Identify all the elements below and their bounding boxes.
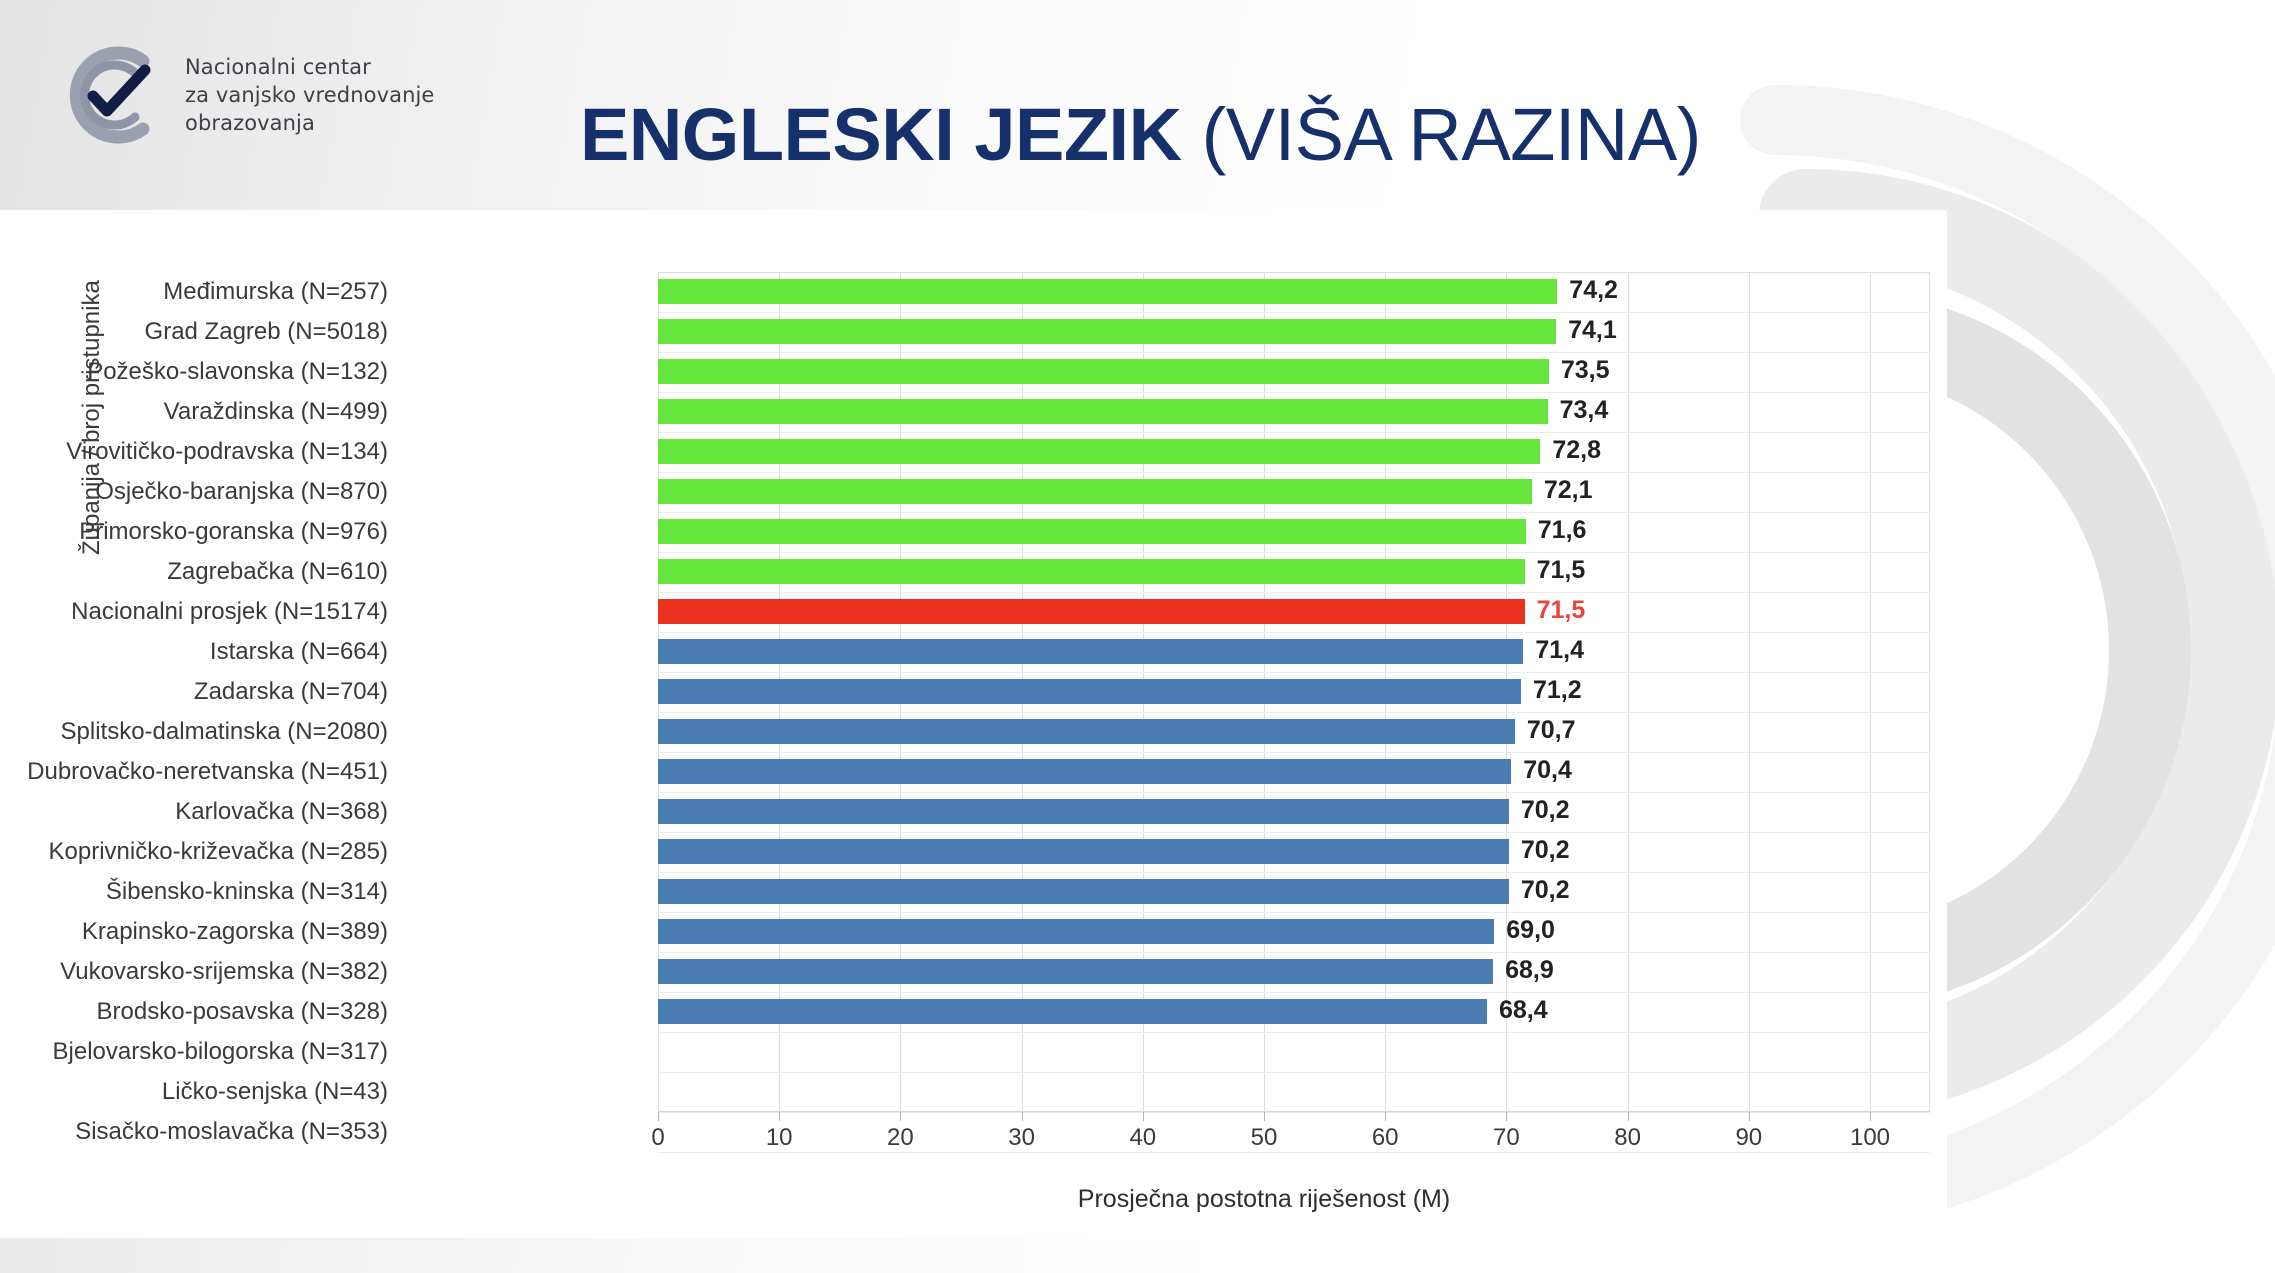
bar-row: 69,0 (658, 912, 1930, 952)
bar-row: 71,4 (658, 632, 1930, 672)
bar-row: 70,2 (658, 792, 1930, 832)
bar (658, 959, 1493, 984)
page-title: ENGLESKI JEZIK (VIŠA RAZINA) (580, 92, 1880, 177)
bar-row: 73,5 (658, 352, 1930, 392)
x-tick-label: 90 (1704, 1124, 1794, 1152)
bar (658, 399, 1548, 424)
bar-value-label: 71,2 (1533, 676, 1582, 705)
category-label: Varaždinska (N=499) (0, 398, 388, 426)
bar-row: 74,1 (658, 312, 1930, 352)
category-label: Ličko-senjska (N=43) (0, 1078, 388, 1106)
bar-row (658, 1072, 1930, 1112)
category-label: Zadarska (N=704) (0, 678, 388, 706)
x-tick-mark (779, 1112, 780, 1121)
bar-row: 72,1 (658, 472, 1930, 512)
bar-value-label: 70,2 (1521, 796, 1570, 825)
x-tick-mark (1264, 1112, 1265, 1121)
bar-value-label: 70,4 (1523, 756, 1572, 785)
category-label: Vukovarsko-srijemska (N=382) (0, 958, 388, 986)
x-tick-mark (1022, 1112, 1023, 1121)
bar-row: 72,8 (658, 432, 1930, 472)
x-axis-title: Prosječna postotna riješenost (M) (658, 1185, 1870, 1214)
bar (658, 759, 1511, 784)
bar (658, 679, 1521, 704)
bar (658, 919, 1494, 944)
x-tick-mark (1143, 1112, 1144, 1121)
bar (658, 599, 1525, 624)
bar (658, 439, 1540, 464)
bar-row: 73,4 (658, 392, 1930, 432)
x-tick-label: 20 (855, 1124, 945, 1152)
bar (658, 879, 1509, 904)
category-label: Bjelovarsko-bilogorska (N=317) (0, 1038, 388, 1066)
bar (658, 999, 1487, 1024)
bar-value-label: 68,9 (1505, 956, 1554, 985)
bar-chart: Županija / broj pristupnika Prosječna po… (0, 0, 2275, 1273)
bar (658, 479, 1532, 504)
category-label: Karlovačka (N=368) (0, 798, 388, 826)
bar (658, 839, 1509, 864)
gridline-horizontal (658, 1152, 1930, 1153)
x-tick-label: 50 (1219, 1124, 1309, 1152)
bar-row: 71,5 (658, 552, 1930, 592)
bar (658, 719, 1515, 744)
x-tick-mark (1506, 1112, 1507, 1121)
bar (658, 559, 1525, 584)
bar-value-label: 72,8 (1552, 436, 1601, 465)
bar-value-label: 68,4 (1499, 996, 1548, 1025)
bar (658, 519, 1526, 544)
x-tick-label: 60 (1340, 1124, 1430, 1152)
bar (658, 639, 1523, 664)
category-label: Virovitičko-podravska (N=134) (0, 438, 388, 466)
x-tick-mark (1385, 1112, 1386, 1121)
c-checkmark-logo-icon (55, 39, 167, 151)
category-label: Dubrovačko-neretvanska (N=451) (0, 758, 388, 786)
bar-row: 70,2 (658, 832, 1930, 872)
page-title-bold: ENGLESKI JEZIK (580, 93, 1182, 176)
bar-value-label: 74,1 (1568, 316, 1617, 345)
category-label: Zagrebačka (N=610) (0, 558, 388, 586)
category-label: Koprivničko-križevačka (N=285) (0, 838, 388, 866)
bar-value-label: 71,4 (1535, 636, 1584, 665)
bar-row: 68,4 (658, 992, 1930, 1032)
bar-value-label: 70,2 (1521, 836, 1570, 865)
bar-row: 71,6 (658, 512, 1930, 552)
organization-logo: Nacionalni centar za vanjsko vrednovanje… (55, 40, 575, 150)
bar-value-label: 71,5 (1537, 556, 1586, 585)
bar-value-label: 73,5 (1561, 356, 1610, 385)
bar (658, 279, 1557, 304)
bar-value-label: 70,7 (1527, 716, 1576, 745)
category-label: Grad Zagreb (N=5018) (0, 318, 388, 346)
category-label: Požeško-slavonska (N=132) (0, 358, 388, 386)
category-label: Nacionalni prosjek (N=15174) (0, 598, 388, 626)
category-label: Osječko-baranjska (N=870) (0, 478, 388, 506)
bar-row: 71,2 (658, 672, 1930, 712)
x-tick-mark (1870, 1112, 1871, 1121)
bar-row: 70,7 (658, 712, 1930, 752)
bar-row (658, 1032, 1930, 1072)
bar-value-label: 69,0 (1506, 916, 1555, 945)
category-label: Splitsko-dalmatinska (N=2080) (0, 718, 388, 746)
bar (658, 319, 1556, 344)
bar (658, 359, 1549, 384)
bar-value-label: 74,2 (1569, 276, 1618, 305)
bar-value-label: 71,6 (1538, 516, 1587, 545)
x-tick-label: 10 (734, 1124, 824, 1152)
bar-value-label: 71,5 (1537, 596, 1586, 625)
plot-area: 74,274,173,573,472,872,171,671,571,571,4… (658, 272, 1930, 1112)
category-label: Istarska (N=664) (0, 638, 388, 666)
x-tick-label: 70 (1461, 1124, 1551, 1152)
x-tick-mark (1628, 1112, 1629, 1121)
category-label: Primorsko-goranska (N=976) (0, 518, 388, 546)
x-tick-label: 80 (1583, 1124, 1673, 1152)
bar-value-label: 70,2 (1521, 876, 1570, 905)
category-label: Krapinsko-zagorska (N=389) (0, 918, 388, 946)
bar-value-label: 73,4 (1560, 396, 1609, 425)
x-tick-label: 100 (1825, 1124, 1915, 1152)
x-tick-mark (900, 1112, 901, 1121)
category-label: Brodsko-posavska (N=328) (0, 998, 388, 1026)
logo-text-line-1: Nacionalni centar (185, 53, 434, 81)
page-title-normal: (VIŠA RAZINA) (1202, 93, 1701, 176)
logo-text-line-3: obrazovanja (185, 109, 434, 137)
x-tick-label: 30 (977, 1124, 1067, 1152)
bar-row: 70,2 (658, 872, 1930, 912)
bar-row: 70,4 (658, 752, 1930, 792)
x-tick-label: 0 (613, 1124, 703, 1152)
bar-row: 68,9 (658, 952, 1930, 992)
logo-text-line-2: za vanjsko vrednovanje (185, 81, 434, 109)
x-tick-mark (658, 1112, 659, 1121)
bar-row: 71,5 (658, 592, 1930, 632)
x-tick-mark (1749, 1112, 1750, 1121)
category-label: Šibensko-kninska (N=314) (0, 878, 388, 906)
category-label: Sisačko-moslavačka (N=353) (0, 1118, 388, 1146)
bar (658, 799, 1509, 824)
x-tick-label: 40 (1098, 1124, 1188, 1152)
category-label: Međimurska (N=257) (0, 278, 388, 306)
bar-value-label: 72,1 (1544, 476, 1593, 505)
bar-row: 74,2 (658, 272, 1930, 312)
